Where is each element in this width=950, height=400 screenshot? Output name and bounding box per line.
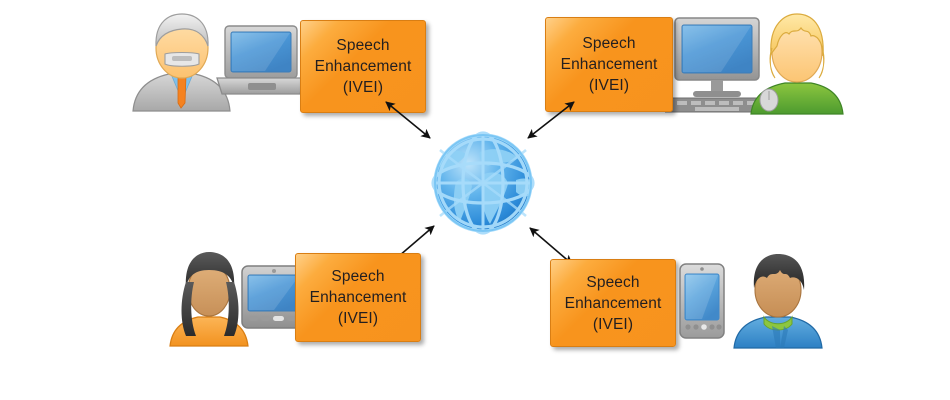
box-label-bottom-left: Speech Enhancement (IVEI) <box>310 266 407 329</box>
laptop-icon <box>217 26 300 94</box>
box-line-3: (IVEI) <box>565 314 662 335</box>
connector-top-right <box>520 96 582 144</box>
box-label-bottom-right: Speech Enhancement (IVEI) <box>565 272 662 335</box>
actor-young-man-smartphone <box>676 250 836 350</box>
box-line-3: (IVEI) <box>310 308 407 329</box>
speech-enhancement-box-bottom-left[interactable]: Speech Enhancement (IVEI) <box>295 253 421 342</box>
smartphone-icon <box>680 264 724 338</box>
person-body-icon <box>133 14 230 111</box>
box-line-1: Speech <box>561 33 658 54</box>
actor-woman-tablet <box>168 248 308 348</box>
connector-top-left <box>378 96 438 144</box>
box-line-2: Enhancement <box>561 54 658 75</box>
box-label-top-left: Speech Enhancement (IVEI) <box>315 35 412 98</box>
speech-enhancement-box-bottom-right[interactable]: Speech Enhancement (IVEI) <box>550 259 676 347</box>
box-line-1: Speech <box>310 266 407 287</box>
person-body-icon <box>751 14 843 114</box>
box-line-1: Speech <box>565 272 662 293</box>
person-body-icon <box>170 252 248 346</box>
box-line-3: (IVEI) <box>315 77 412 98</box>
box-label-top-right: Speech Enhancement (IVEI) <box>561 33 658 96</box>
actor-woman-desktop-computer <box>665 8 845 116</box>
box-line-2: Enhancement <box>565 293 662 314</box>
diagram-canvas: Speech Enhancement (IVEI) <box>0 0 950 400</box>
actor-elderly-man-laptop <box>125 8 300 113</box>
box-line-3: (IVEI) <box>561 75 658 96</box>
box-line-2: Enhancement <box>310 287 407 308</box>
person-body-icon <box>734 254 822 348</box>
box-line-1: Speech <box>315 35 412 56</box>
box-line-2: Enhancement <box>315 56 412 77</box>
